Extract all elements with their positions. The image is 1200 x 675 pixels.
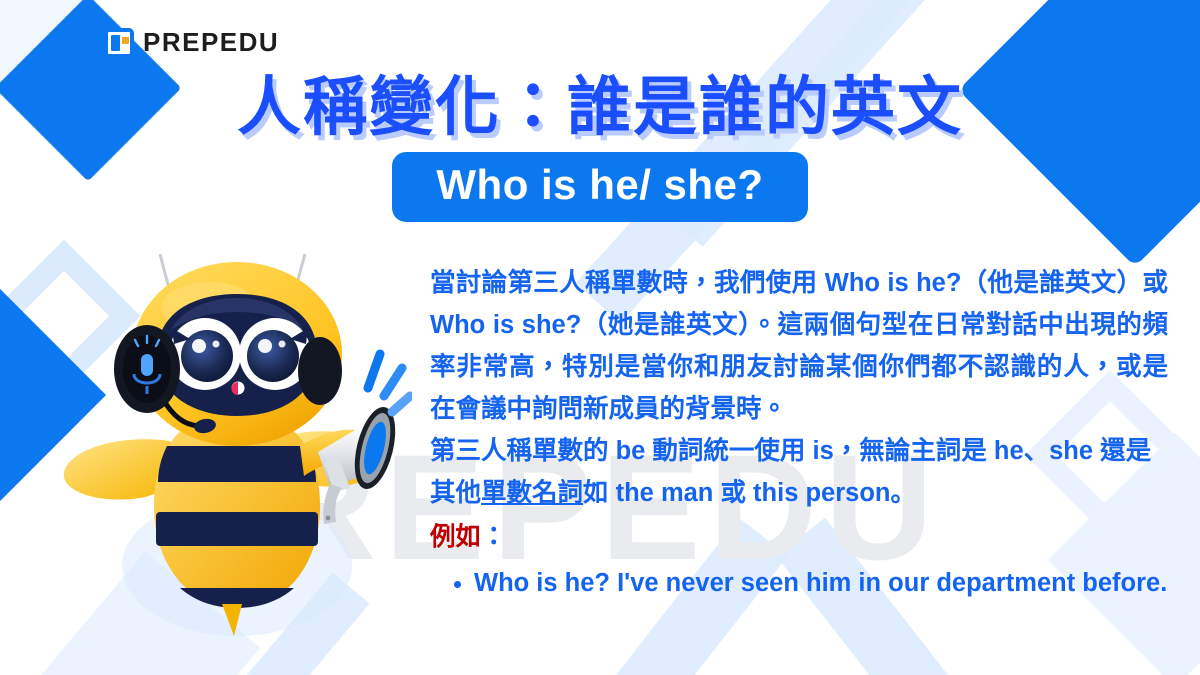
prepedu-square-logo-icon: [104, 28, 134, 58]
example-label-text: 例如: [430, 523, 481, 551]
headphone-right-cup: [298, 337, 342, 405]
example-label-colon: ：: [481, 523, 507, 551]
brand-name: PREPEDU: [143, 27, 279, 58]
paragraph-2-after-link: 如 the man 或 this person。: [583, 479, 916, 507]
paragraph-1: 當討論第三人稱單數時，我們使用 Who is he?（他是誰英文）或 Who i…: [430, 262, 1168, 430]
slide-canvas: PREPEDU PREPEDU 人稱變化：誰是誰的英文 Who is he/ s…: [0, 0, 1200, 675]
example-label: 例如：: [430, 516, 1168, 558]
example-list: Who is he? I've never seen him in our de…: [430, 562, 1168, 604]
bee-eye-left: [169, 318, 241, 390]
headphone-icon: [114, 325, 180, 413]
list-item: Who is he? I've never seen him in our de…: [452, 562, 1168, 604]
sound-burst-icon: [368, 354, 410, 412]
paragraph-2: 第三人稱單數的 be 動詞統一使用 is，無論主詞是 he、she 還是其他單數…: [430, 430, 1168, 514]
subtitle-badge: Who is he/ she?: [392, 152, 807, 222]
prepedu-bee-mascot: [62, 236, 412, 636]
subtitle-badge-wrap: Who is he/ she?: [0, 152, 1200, 222]
singular-noun-link[interactable]: 單數名詞: [481, 479, 583, 507]
page-title: 人稱變化：誰是誰的英文: [0, 56, 1200, 148]
megaphone-icon: [318, 403, 403, 524]
body-copy: 當討論第三人稱單數時，我們使用 Who is he?（他是誰英文）或 Who i…: [430, 262, 1168, 604]
brand-logo: PREPEDU: [104, 27, 279, 58]
